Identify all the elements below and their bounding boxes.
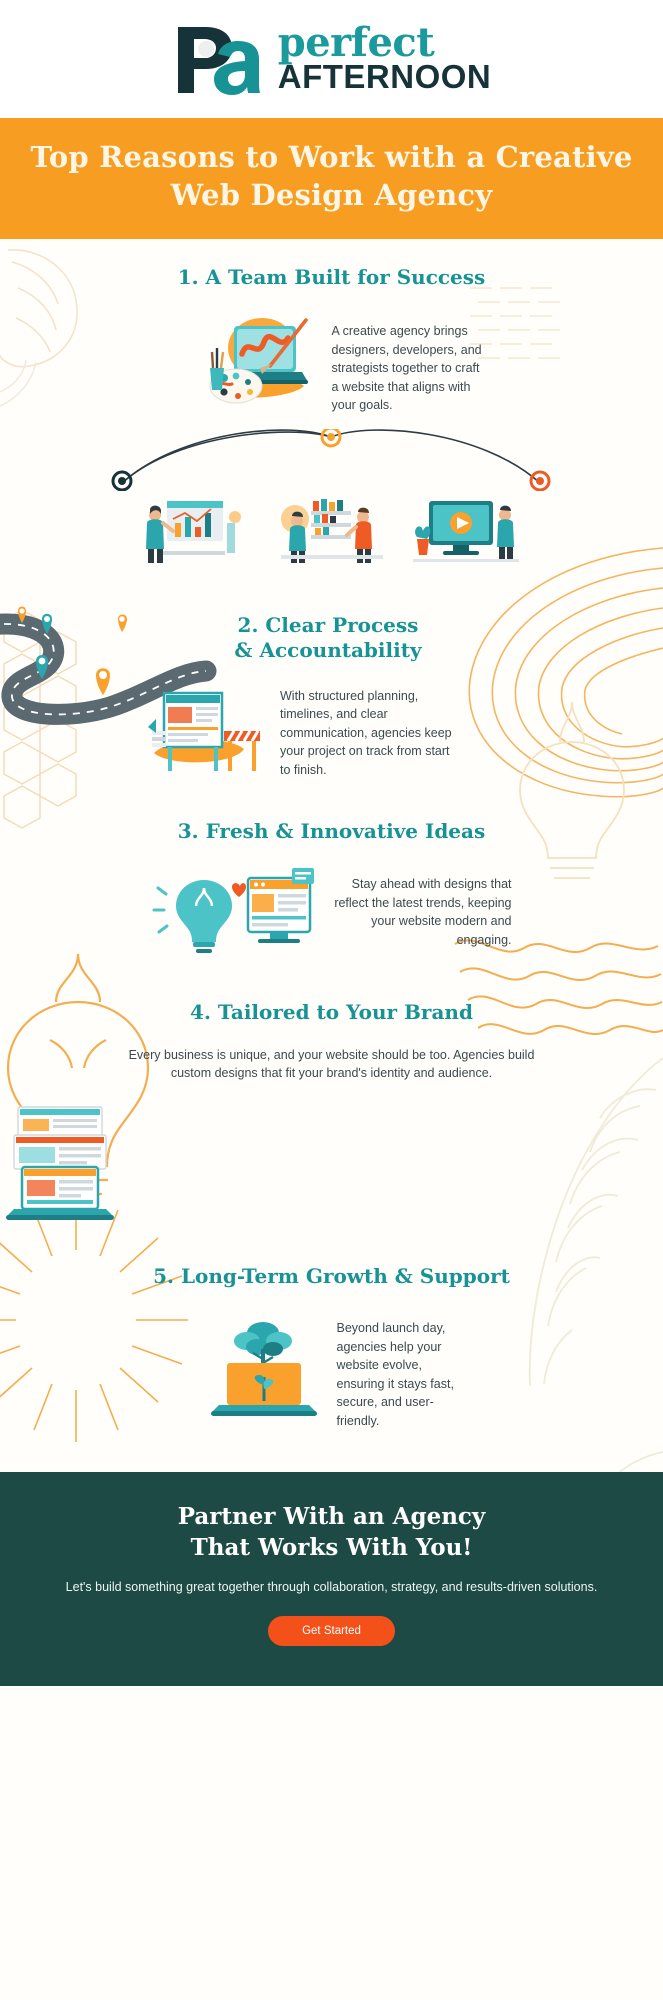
- section-5-body: Beyond launch day, agencies help your we…: [337, 1313, 459, 1430]
- lightbulb-monitor-icon: [152, 866, 322, 958]
- footer-heading: Partner With an Agency That Works With Y…: [40, 1502, 623, 1564]
- construction-kiosk-illustration: [148, 675, 270, 785]
- two-people-books-illustration: [273, 493, 391, 567]
- section-3-title: 3. Fresh & Innovative Ideas: [0, 819, 663, 845]
- section-tailored-to-your-brand: 4. Tailored to Your Brand Every business…: [0, 1000, 663, 1228]
- footer-heading-line2: That Works With You!: [191, 1534, 473, 1561]
- laptop-layouts-icon: [0, 1105, 120, 1223]
- site-header: perfect AFTERNOON: [0, 0, 663, 118]
- footer-subtext: Let's build something great together thr…: [40, 1578, 623, 1596]
- section-1-title: 1. A Team Built for Success: [0, 265, 663, 291]
- section-2-body: With structured planning, timelines, and…: [280, 687, 455, 780]
- laptop-growing-tree-icon: [205, 1313, 323, 1421]
- map-pin-orange-2: [118, 614, 127, 632]
- title-banner: Top Reasons to Work with a Creative Web …: [0, 118, 663, 239]
- section-4-body: Every business is unique, and your websi…: [122, 1046, 542, 1083]
- brand-wordmark: perfect AFTERNOON: [278, 25, 492, 92]
- infographic-page: perfect AFTERNOON Top Reasons to Work wi…: [0, 0, 663, 2000]
- section-3-body: Stay ahead with designs that reflect the…: [332, 875, 512, 949]
- arc-connector: [0, 429, 663, 491]
- section-long-term-growth-support: 5. Long-Term Growth & Support: [0, 1264, 663, 1431]
- person-presenting-chart-illustration: [137, 493, 255, 567]
- section-4-title: 4. Tailored to Your Brand: [0, 1000, 663, 1026]
- section-fresh-innovative-ideas: 3. Fresh & Innovative Ideas: [0, 819, 663, 959]
- section-1-body: A creative agency brings designers, deve…: [332, 312, 484, 415]
- section-team-built-for-success: 1. A Team Built for Success: [0, 239, 663, 567]
- footer-cta-section: Partner With an Agency That Works With Y…: [0, 1472, 663, 1686]
- page-title: Top Reasons to Work with a Creative Web …: [30, 138, 633, 215]
- brand-line-perfect: perfect: [278, 25, 492, 62]
- section-5-title: 5. Long-Term Growth & Support: [0, 1264, 663, 1290]
- pa-monogram-icon: [172, 19, 264, 99]
- map-pin-orange-3: [96, 668, 110, 695]
- section-clear-process-accountability: 2. Clear Process & Accountability: [0, 601, 663, 801]
- person-video-monitor-illustration: [409, 493, 527, 567]
- team-trio-illustrations: [0, 493, 663, 567]
- get-started-button[interactable]: Get Started: [268, 1616, 395, 1646]
- footer-heading-line1: Partner With an Agency: [178, 1503, 486, 1530]
- heart-icon: [232, 883, 246, 897]
- brand-line-afternoon: AFTERNOON: [278, 62, 492, 92]
- laptop-palette-paintbrush-icon: [200, 312, 318, 408]
